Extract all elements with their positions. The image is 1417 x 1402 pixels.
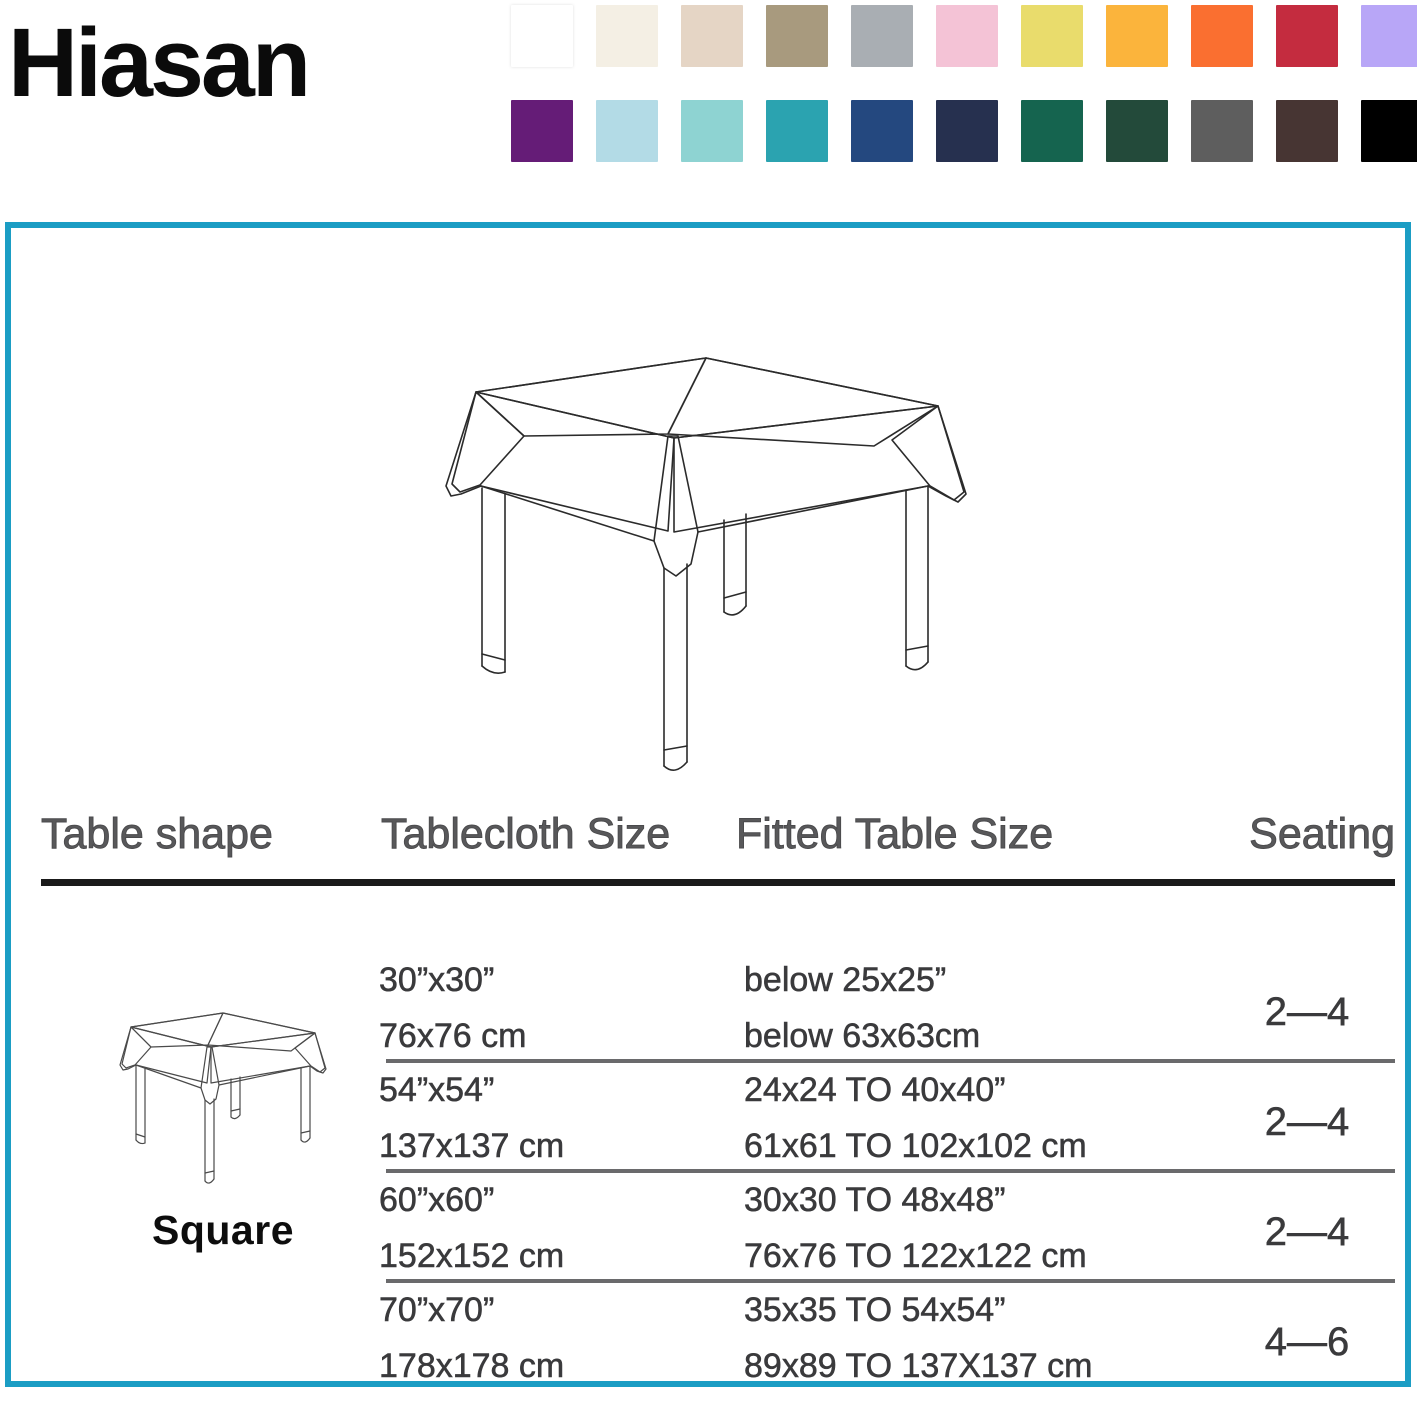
fitted-cm: 89x89 TO 137X137 cm — [744, 1345, 1092, 1389]
header-divider — [41, 879, 1395, 886]
table-row: 54”x54” 137x137 cm 24x24 TO 40x40” 61x61… — [33, 1063, 1395, 1173]
cloth-cm: 178x178 cm — [379, 1345, 564, 1389]
fitted-cm: 76x76 TO 122x122 cm — [744, 1235, 1087, 1279]
sizing-chart-page: Hiasan — [0, 0, 1417, 1402]
cell-fitted-table-size: 24x24 TO 40x40” 61x61 TO 102x102 cm — [744, 1069, 1087, 1168]
cell-fitted-table-size: below 25x25” below 63x63cm — [744, 959, 980, 1058]
table-row: 70”x70” 178x178 cm 35x35 TO 54x54” 89x89… — [33, 1283, 1395, 1401]
swatch-black[interactable] — [1361, 100, 1417, 162]
table-row: 60”x60” 152x152 cm 30x30 TO 48x48” 76x76… — [33, 1173, 1395, 1283]
swatch-white[interactable] — [511, 5, 573, 67]
cell-tablecloth-size: 30”x30” 76x76 cm — [379, 959, 526, 1058]
swatch-row-2 — [511, 100, 1411, 162]
swatch-gold[interactable] — [1106, 5, 1168, 67]
swatch-teal[interactable] — [766, 100, 828, 162]
cell-seating: 2—4 — [1219, 987, 1395, 1038]
swatch-purple[interactable] — [511, 100, 573, 162]
cell-fitted-table-size: 30x30 TO 48x48” 76x76 TO 122x122 cm — [744, 1179, 1087, 1278]
swatch-emerald[interactable] — [1021, 100, 1083, 162]
fitted-inches: 30x30 TO 48x48” — [744, 1181, 1005, 1219]
swatch-pink[interactable] — [936, 5, 998, 67]
cloth-inches: 70”x70” — [379, 1291, 494, 1329]
sizing-panel: Table shape Tablecloth Size Fitted Table… — [5, 222, 1411, 1387]
cell-tablecloth-size: 60”x60” 152x152 cm — [379, 1179, 564, 1278]
swatch-light-blue[interactable] — [596, 100, 658, 162]
brand-logo: Hiasan — [8, 14, 308, 111]
header-table-shape: Table shape — [41, 813, 273, 856]
cell-tablecloth-size: 54”x54” 137x137 cm — [379, 1069, 564, 1168]
cloth-inches: 54”x54” — [379, 1071, 494, 1109]
cell-seating: 2—4 — [1219, 1097, 1395, 1148]
table-row: 30”x30” 76x76 cm below 25x25” below 63x6… — [33, 953, 1395, 1063]
fitted-inches: 24x24 TO 40x40” — [744, 1071, 1005, 1109]
swatch-taupe[interactable] — [766, 5, 828, 67]
cloth-cm: 76x76 cm — [379, 1015, 526, 1059]
fitted-cm: below 63x63cm — [744, 1015, 980, 1059]
cell-seating: 2—4 — [1219, 1207, 1395, 1258]
swatch-forest-green[interactable] — [1106, 100, 1168, 162]
cell-seating: 4—6 — [1219, 1317, 1395, 1368]
swatch-dark-grey[interactable] — [1191, 100, 1253, 162]
swatch-yellow[interactable] — [1021, 5, 1083, 67]
swatch-orange[interactable] — [1191, 5, 1253, 67]
color-swatch-grid — [511, 5, 1411, 195]
cloth-cm: 137x137 cm — [379, 1125, 564, 1169]
cell-tablecloth-size: 70”x70” 178x178 cm — [379, 1289, 564, 1388]
swatch-ivory[interactable] — [596, 5, 658, 67]
swatch-row-1 — [511, 5, 1411, 67]
swatch-brown[interactable] — [1276, 100, 1338, 162]
swatch-navy[interactable] — [936, 100, 998, 162]
table-body: Square 30”x30” 76x76 cm below 25x25” bel… — [33, 953, 1395, 1402]
header-seating: Seating — [1249, 813, 1395, 856]
swatch-blue[interactable] — [851, 100, 913, 162]
square-table-illustration — [406, 336, 1006, 796]
fitted-cm: 61x61 TO 102x102 cm — [744, 1125, 1087, 1169]
cloth-inches: 60”x60” — [379, 1181, 494, 1219]
header-fitted-table-size: Fitted Table Size — [736, 813, 1053, 856]
swatch-aqua[interactable] — [681, 100, 743, 162]
swatch-beige[interactable] — [681, 5, 743, 67]
fitted-inches: 35x35 TO 54x54” — [744, 1291, 1005, 1329]
header-tablecloth-size: Tablecloth Size — [381, 813, 670, 856]
swatch-lavender[interactable] — [1361, 5, 1417, 67]
table-header-row: Table shape Tablecloth Size Fitted Table… — [33, 813, 1395, 873]
swatch-grey[interactable] — [851, 5, 913, 67]
sizing-table: Table shape Tablecloth Size Fitted Table… — [33, 813, 1395, 1402]
cloth-inches: 30”x30” — [379, 961, 494, 999]
swatch-red[interactable] — [1276, 5, 1338, 67]
cloth-cm: 152x152 cm — [379, 1235, 564, 1279]
fitted-inches: below 25x25” — [744, 961, 946, 999]
cell-fitted-table-size: 35x35 TO 54x54” 89x89 TO 137X137 cm — [744, 1289, 1092, 1388]
